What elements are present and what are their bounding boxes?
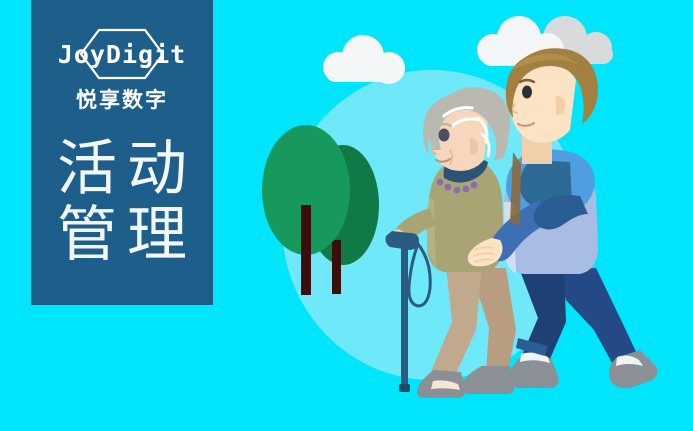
title-panel: JoyDigit 悦享数字 活动 管理	[31, 0, 213, 305]
cane-shaft	[401, 240, 408, 388]
man-eye	[522, 86, 532, 99]
logo-chinese-name: 悦享数字	[76, 84, 168, 114]
page-title-line-2: 管理	[47, 202, 197, 268]
logo-wordmark: JoyDigit	[47, 26, 197, 82]
elder-eye	[439, 129, 450, 142]
logo-block: JoyDigit 悦享数字	[31, 26, 213, 114]
logo-mark: JoyDigit	[47, 26, 197, 82]
page-title: 活动 管理	[31, 136, 213, 268]
cane-tip	[399, 384, 410, 392]
banner-canvas: JoyDigit 悦享数字 活动 管理	[0, 0, 693, 431]
page-title-line-1: 活动	[47, 136, 197, 202]
